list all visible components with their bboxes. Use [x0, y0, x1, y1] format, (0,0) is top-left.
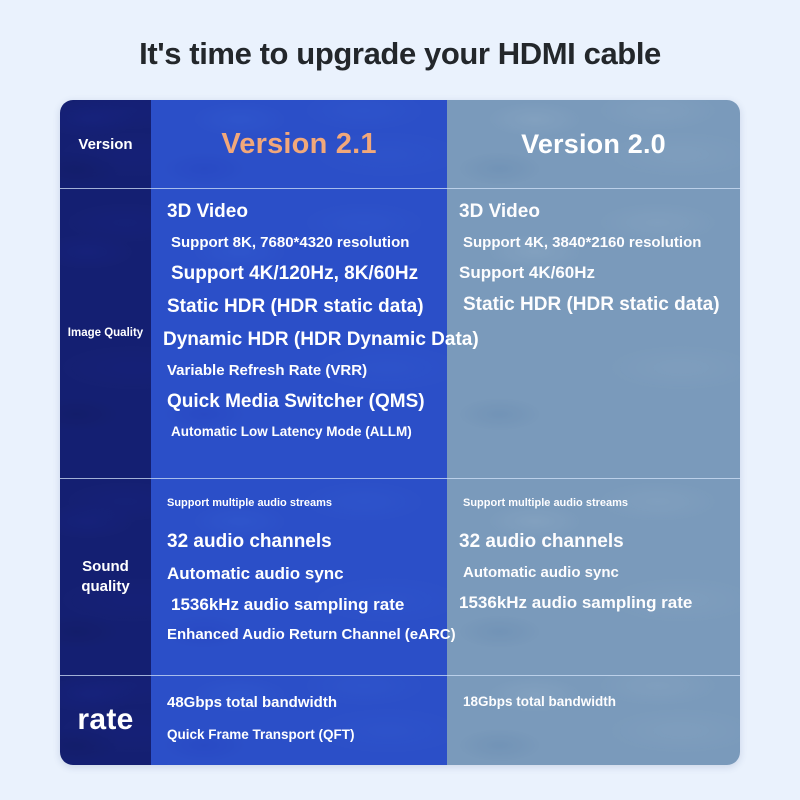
- feature-item: Quick Media Switcher (QMS): [167, 392, 437, 412]
- sound-quality-version-20-cell: Support multiple audio streams 32 audio …: [447, 478, 740, 675]
- row-label-text: Image Quality: [68, 327, 143, 339]
- feature-item: 3D Video: [459, 202, 730, 222]
- row-label-sound-quality: Sound quality: [60, 478, 151, 675]
- header-version-label: Version: [78, 136, 132, 153]
- image-quality-version-20-list: 3D Video Support 4K, 3840*2160 resolutio…: [447, 188, 740, 478]
- page-title: It's time to upgrade your HDMI cable: [0, 36, 800, 72]
- feature-item: Support 4K/120Hz, 8K/60Hz: [171, 264, 437, 284]
- feature-item: 48Gbps total bandwidth: [167, 695, 437, 711]
- sound-quality-version-21-cell: Support multiple audio streams 32 audio …: [151, 478, 447, 675]
- feature-item: Support 4K, 3840*2160 resolution: [463, 235, 730, 251]
- table-header-row: Version Version 2.1 Version 2.0: [60, 100, 740, 188]
- row-label-image-quality: Image Quality: [60, 188, 151, 478]
- table-row-rate: rate 48Gbps total bandwidth Quick Frame …: [60, 675, 740, 765]
- rate-version-20-cell: 18Gbps total bandwidth: [447, 675, 740, 765]
- row-label-text: Sound quality: [64, 557, 147, 595]
- sound-quality-version-20-list: Support multiple audio streams 32 audio …: [447, 478, 740, 675]
- feature-item: Support 8K, 7680*4320 resolution: [171, 235, 437, 251]
- feature-item: 3D Video: [167, 202, 437, 222]
- sound-quality-version-21-list: Support multiple audio streams 32 audio …: [151, 478, 447, 675]
- feature-item: Static HDR (HDR static data): [463, 295, 730, 315]
- header-version-21-cell: Version 2.1: [151, 100, 447, 188]
- feature-item: Automatic audio sync: [463, 565, 730, 581]
- feature-item: 1536kHz audio sampling rate: [171, 596, 437, 614]
- rate-version-20-list: 18Gbps total bandwidth: [447, 675, 740, 765]
- header-version-20-cell: Version 2.0: [447, 100, 740, 188]
- header-version-21-title: Version 2.1: [221, 128, 376, 161]
- header-label-cell: Version: [60, 100, 151, 188]
- rate-version-21-list: 48Gbps total bandwidth Quick Frame Trans…: [151, 675, 447, 765]
- row-label-rate: rate: [60, 675, 151, 765]
- image-quality-version-20-cell: 3D Video Support 4K, 3840*2160 resolutio…: [447, 188, 740, 478]
- image-quality-version-21-list: 3D Video Support 8K, 7680*4320 resolutio…: [151, 188, 447, 478]
- feature-item: Support multiple audio streams: [463, 498, 730, 510]
- image-quality-version-21-cell: 3D Video Support 8K, 7680*4320 resolutio…: [151, 188, 447, 478]
- feature-item: Support multiple audio streams: [167, 498, 437, 510]
- feature-item: 32 audio channels: [459, 532, 730, 552]
- header-version-20-title: Version 2.0: [521, 129, 666, 160]
- hdmi-comparison-table: Version Version 2.1 Version 2.0 Image Qu…: [60, 100, 740, 765]
- feature-item: Variable Refresh Rate (VRR): [167, 363, 437, 379]
- feature-item: 32 audio channels: [167, 532, 437, 552]
- feature-item: Automatic audio sync: [167, 565, 437, 583]
- feature-item: Enhanced Audio Return Channel (eARC): [167, 627, 437, 643]
- table-row-image-quality: Image Quality 3D Video Support 8K, 7680*…: [60, 188, 740, 478]
- row-label-text: rate: [77, 703, 133, 737]
- feature-item: Automatic Low Latency Mode (ALLM): [171, 425, 437, 439]
- rate-version-21-cell: 48Gbps total bandwidth Quick Frame Trans…: [151, 675, 447, 765]
- feature-item: Dynamic HDR (HDR Dynamic Data): [163, 330, 437, 350]
- feature-item: Quick Frame Transport (QFT): [167, 728, 437, 742]
- table-row-sound-quality: Sound quality Support multiple audio str…: [60, 478, 740, 675]
- feature-item: 18Gbps total bandwidth: [463, 695, 730, 709]
- feature-item: Support 4K/60Hz: [459, 264, 730, 282]
- feature-item: 1536kHz audio sampling rate: [459, 594, 730, 612]
- feature-item: Static HDR (HDR static data): [167, 297, 437, 317]
